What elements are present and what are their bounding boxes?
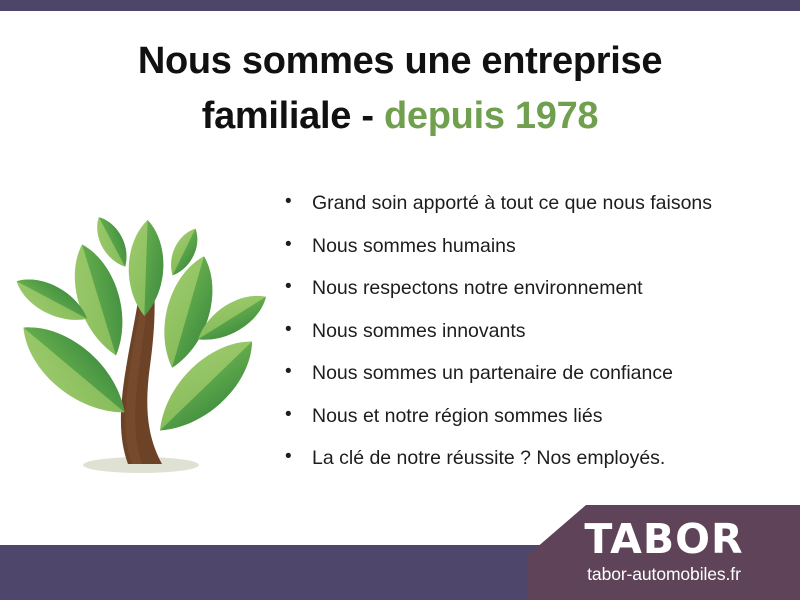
leaf [144, 325, 266, 446]
brand-wordmark: TABOR [528, 517, 800, 561]
tree-svg [16, 190, 266, 480]
leaf [127, 219, 165, 316]
list-item: Nous respectons notre environnement [283, 277, 763, 299]
list-item: Nous sommes humains [283, 235, 763, 257]
tree-illustration [16, 190, 266, 480]
list-item: Grand soin apporté à tout ce que nous fa… [283, 192, 763, 214]
top-accent-bar [0, 0, 800, 11]
brand-tagline: tabor-automobiles.fr [528, 564, 800, 584]
value-bullet-list: Grand soin apporté à tout ce que nous fa… [283, 192, 763, 490]
headline-line-1: Nous sommes une entreprise [138, 40, 662, 82]
page-title: Nous sommes une entreprise familiale - d… [0, 34, 800, 144]
headline-line-2-plain: familiale - [202, 95, 374, 137]
slide-canvas: Nous sommes une entreprise familiale - d… [0, 0, 800, 600]
headline-line-2-accent: depuis 1978 [384, 95, 598, 137]
list-item: La clé de notre réussite ? Nos employés. [283, 447, 763, 469]
brand-logo-plate: TABOR tabor-automobiles.fr [528, 505, 800, 600]
list-item: Nous sommes un partenaire de confiance [283, 362, 763, 384]
list-item: Nous sommes innovants [283, 320, 763, 342]
list-item: Nous et notre région sommes liés [283, 405, 763, 427]
